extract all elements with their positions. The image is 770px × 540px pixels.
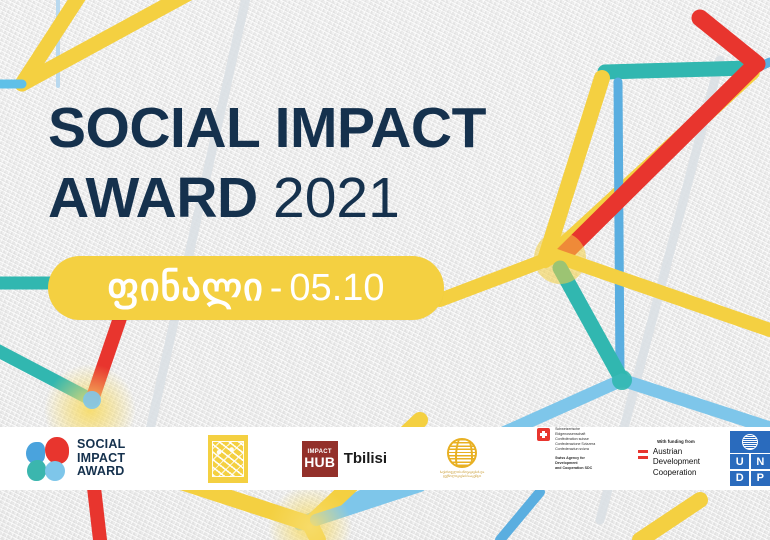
node-dot [612,370,632,390]
globe-icon [447,438,477,468]
petal-teal [27,460,46,481]
sia-wordmark-line-2: AWARD [77,465,162,479]
logo-swiss-agency: Schweizerische Eidgenossenschaft Confédé… [537,427,604,490]
badge-date: 05.10 [289,267,384,309]
node-dot [83,391,101,409]
undp-cell-n: N [751,454,770,469]
un-emblem-icon [742,434,758,450]
page-title: SOCIAL IMPACT AWARD 2021 [48,93,668,233]
finals-date-badge: ფინალი-05.10 [48,256,444,320]
logo-austrian-development-cooperation: With funding from Austrian Development C… [638,427,700,490]
swiss-line-rm: Confederaziun svizra [555,447,589,451]
node-dot [534,232,586,284]
swiss-text-block: Schweizerische Eidgenossenschaft Confédé… [555,427,604,471]
undp-cell-p: P [751,471,770,486]
swiss-line-fr: Confédération suisse [555,437,589,441]
swiss-agency-line-1: Swiss Agency for Development [555,456,604,466]
georgian-script-glyphs [212,441,244,477]
badge-separator: - [264,267,290,309]
undp-letter-grid: U N D P [730,454,770,485]
poster-canvas: SOCIAL IMPACT AWARD 2021 ფინალი-05.10 SO… [0,0,770,540]
logo-georgian-partner-globe: საქართველოს ინოვაციების და ტექნოლოგიების… [429,427,495,490]
austria-line-3: Cooperation [653,468,697,477]
impact-hub-mark: IMPACT HUB [302,441,338,477]
logo-georgian-script [208,427,248,490]
logo-social-impact-award: SOCIAL IMPACT AWARD [0,427,162,490]
badge-label: ფინალი [107,267,263,309]
swiss-line-it: Confederazione Svizzera [555,442,595,446]
austria-line-1: Austrian [653,447,682,456]
swiss-agency-line-2: and Cooperation SDC [555,466,604,471]
undp-cell-d: D [730,471,749,486]
austria-eyebrow: With funding from [643,439,695,444]
headline-year: 2021 [273,166,400,230]
swiss-line-de: Schweizerische Eidgenossenschaft [555,427,585,436]
undp-cell-u: U [730,454,749,469]
badge-text: ფინალი-05.10 [107,268,384,308]
undp-mark: U N D P [730,431,770,485]
impact-hub-hub-text: HUB [304,455,335,469]
logo-impact-hub-tbilisi: IMPACT HUB Tbilisi [302,427,387,490]
impact-hub-city: Tbilisi [344,450,387,467]
undp-emblem-row [730,431,770,454]
petal-red [45,437,69,464]
sia-wordmark: SOCIAL IMPACT AWARD [77,438,162,479]
headline-line-2: AWARD 2021 [48,163,668,233]
globe-logo-caption: საქართველოს ინოვაციების და ტექნოლოგიების… [429,471,495,478]
austria-row: Austrian Development Cooperation [638,447,700,479]
sia-petals-icon [26,437,70,481]
austria-text-block: Austrian Development Cooperation [653,447,700,479]
sia-wordmark-line-1: SOCIAL IMPACT [77,438,162,465]
globe-logo-wrap: საქართველოს ინოვაციების და ტექნოლოგიების… [429,438,495,478]
logo-undp: U N D P [730,427,770,490]
georgian-script-mark [208,435,248,483]
headline-line-1: SOCIAL IMPACT [48,93,668,163]
petal-light-blue [45,461,65,481]
partner-logo-bar: SOCIAL IMPACT AWARD IMPACT HUB Tbilisi ს… [0,427,770,490]
austria-line-2: Development [653,457,700,466]
swiss-flag-icon [537,428,550,441]
headline-award: AWARD [48,166,258,230]
austria-flag-icon [638,450,648,459]
